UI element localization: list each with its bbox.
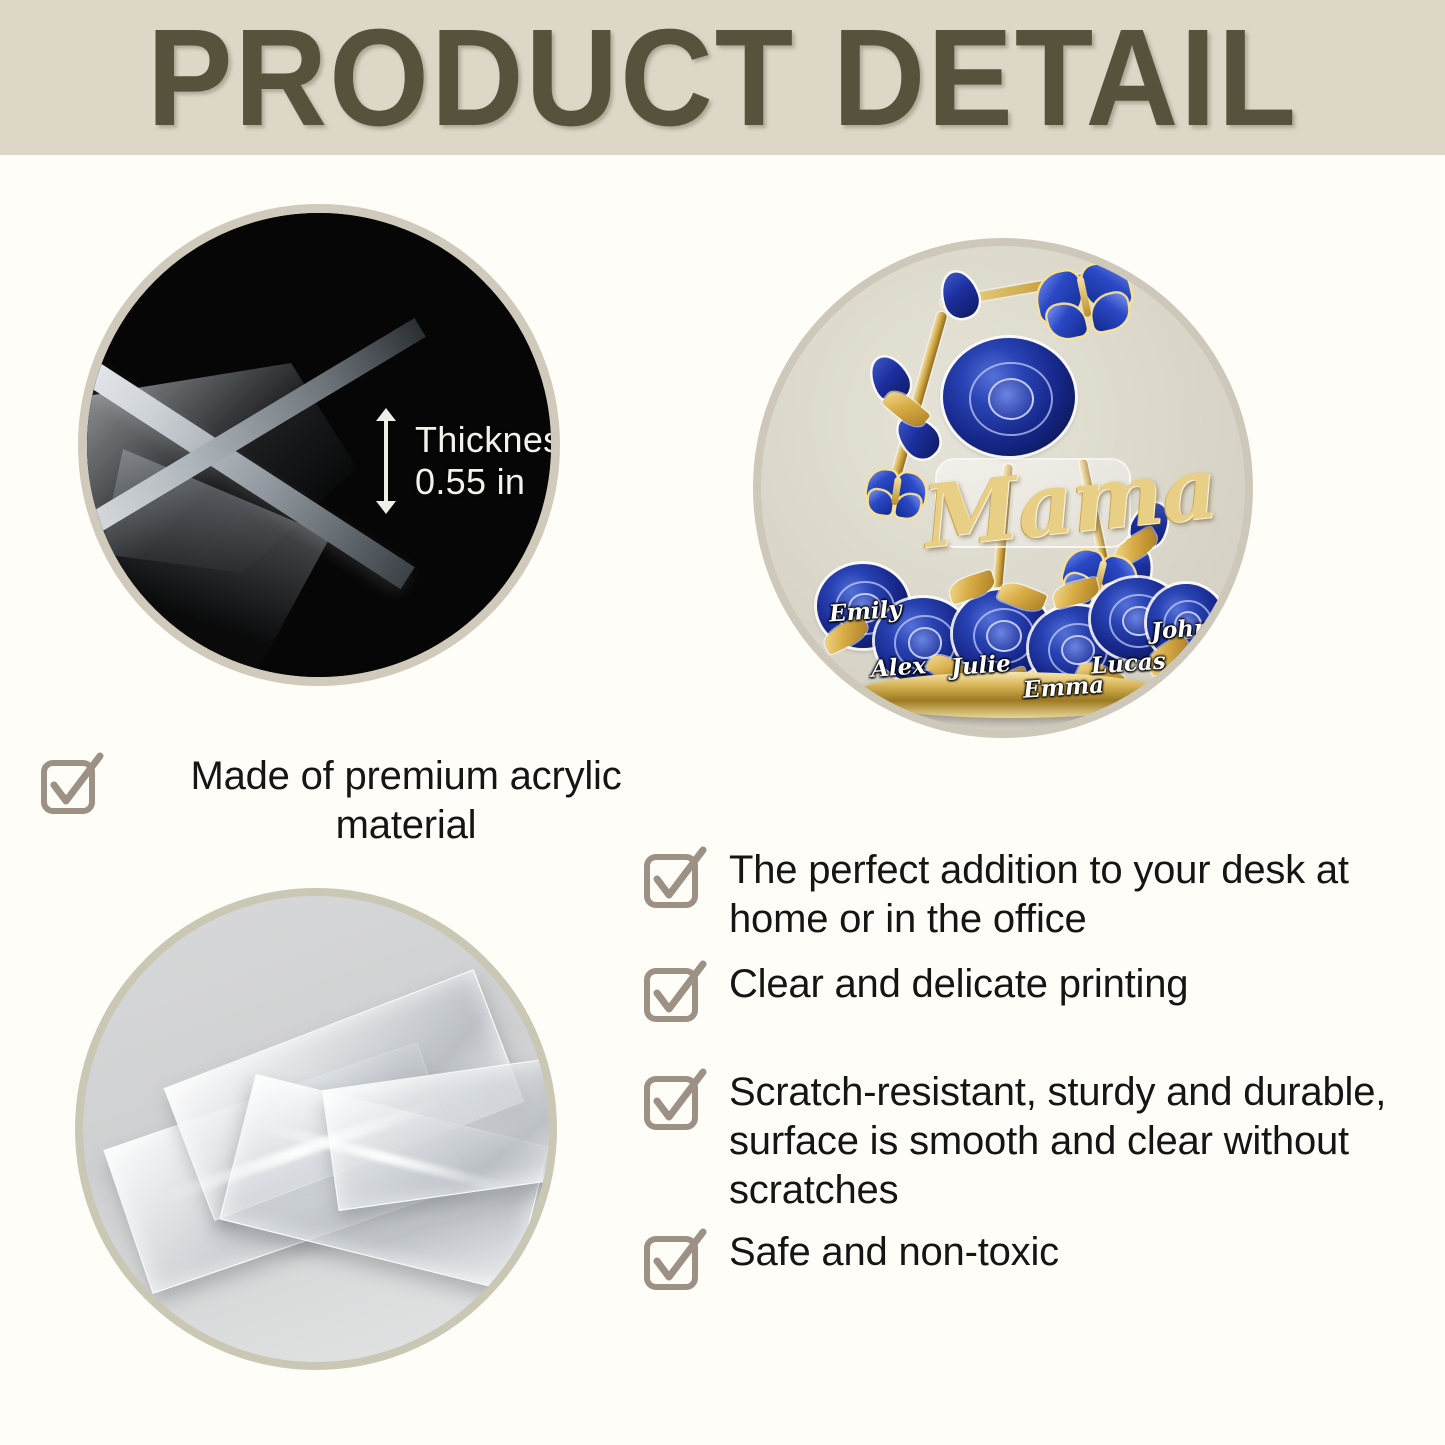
feature-item-scratch: Scratch-resistant, sturdy and durable, s… bbox=[643, 1068, 1413, 1214]
engraved-name-2: Alex bbox=[870, 652, 927, 683]
feature-item-print: Clear and delicate printing bbox=[643, 960, 1413, 1024]
checkbox-checked-icon bbox=[643, 1070, 705, 1132]
engraved-name-1: Emily bbox=[828, 595, 902, 627]
feature-item-acrylic: Made of premium acrylic material bbox=[40, 752, 695, 850]
feature-label-safe: Safe and non-toxic bbox=[729, 1228, 1413, 1277]
acrylic-glint bbox=[232, 654, 492, 686]
checkbox-checked-icon bbox=[643, 848, 705, 910]
script-name-mama: Mama bbox=[919, 445, 1220, 561]
double-arrow-icon bbox=[375, 409, 397, 513]
acrylic-sheets-photo-circle bbox=[75, 888, 557, 1370]
thickness-label: Thickness 0.55 in bbox=[415, 419, 560, 503]
engraved-name-3: Julie bbox=[950, 650, 1011, 681]
main-rose bbox=[943, 338, 1075, 456]
product-illustration: Mama Emily Alex Julie Emma Lucas John bbox=[761, 246, 1245, 730]
engraved-name-6: John bbox=[1150, 614, 1211, 645]
butterfly-left bbox=[864, 468, 928, 520]
feature-label-acrylic: Made of premium acrylic material bbox=[126, 752, 686, 850]
feature-label-desk: The perfect addition to your desk at hom… bbox=[729, 846, 1413, 944]
feature-label-scratch: Scratch-resistant, sturdy and durable, s… bbox=[729, 1068, 1413, 1214]
page-title: PRODUCT DETAIL bbox=[50, 9, 1395, 147]
thickness-label-line1: Thickness bbox=[415, 419, 560, 461]
checkbox-checked-icon bbox=[643, 1230, 705, 1292]
thickness-photo-circle: Thickness 0.55 in bbox=[78, 204, 560, 686]
engraved-name-5: Lucas bbox=[1090, 647, 1166, 679]
feature-item-desk: The perfect addition to your desk at hom… bbox=[643, 846, 1413, 944]
header-band: PRODUCT DETAIL bbox=[0, 0, 1445, 155]
feature-label-print: Clear and delicate printing bbox=[729, 960, 1413, 1009]
checkbox-checked-icon bbox=[643, 962, 705, 1024]
checkbox-checked-icon bbox=[40, 754, 102, 816]
feature-item-safe: Safe and non-toxic bbox=[643, 1228, 1413, 1292]
thickness-label-line2: 0.55 in bbox=[415, 461, 560, 503]
product-photo-circle: Mama Emily Alex Julie Emma Lucas John bbox=[753, 238, 1253, 738]
butterfly-top-right bbox=[1033, 259, 1137, 343]
thickness-annotation: Thickness 0.55 in bbox=[375, 409, 560, 513]
